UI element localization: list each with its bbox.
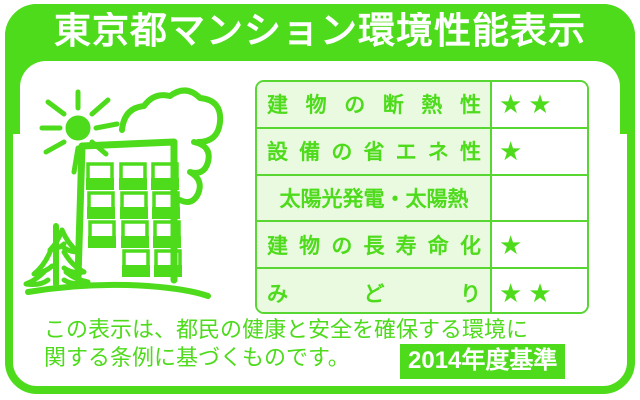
rating-label-longevity: 建物の長寿命化 [257,222,492,267]
ground-line [28,285,208,296]
table-row: 太陽光発電・太陽熱 [257,176,587,223]
rating-stars-greenery: ★★ [492,269,587,314]
table-row: みどり ★★ [257,269,587,314]
table-row: 建物の長寿命化 ★ [257,222,587,269]
footer-line-1: この表示は、都民の健康と安全を確保する環境に [44,316,584,343]
rating-label-energy-saving: 設備の省エネ性 [257,129,492,174]
rating-stars-longevity: ★ [492,222,587,267]
rating-label-insulation: 建物の断熱性 [257,82,492,127]
eco-building-illustration [22,80,252,305]
standard-year-badge: 2014年度基準 [400,344,565,379]
rating-label-solar: 太陽光発電・太陽熱 [257,176,492,221]
rating-stars-insulation: ★★ [492,82,587,127]
rating-label-greenery: みどり [257,269,492,314]
rating-stars-solar [492,176,587,221]
table-row: 設備の省エネ性 ★ [257,129,587,176]
environmental-performance-placard: 東京都マンション環境性能表示 [0,0,640,400]
rating-table: 建物の断熱性 ★★ 設備の省エネ性 ★ 太陽光発電・太陽熱 建物の長寿命化 ★ … [255,80,589,314]
table-row: 建物の断熱性 ★★ [257,82,587,129]
building-windows [86,164,182,277]
rating-stars-energy-saving: ★ [492,129,587,174]
page-title: 東京都マンション環境性能表示 [0,9,640,53]
